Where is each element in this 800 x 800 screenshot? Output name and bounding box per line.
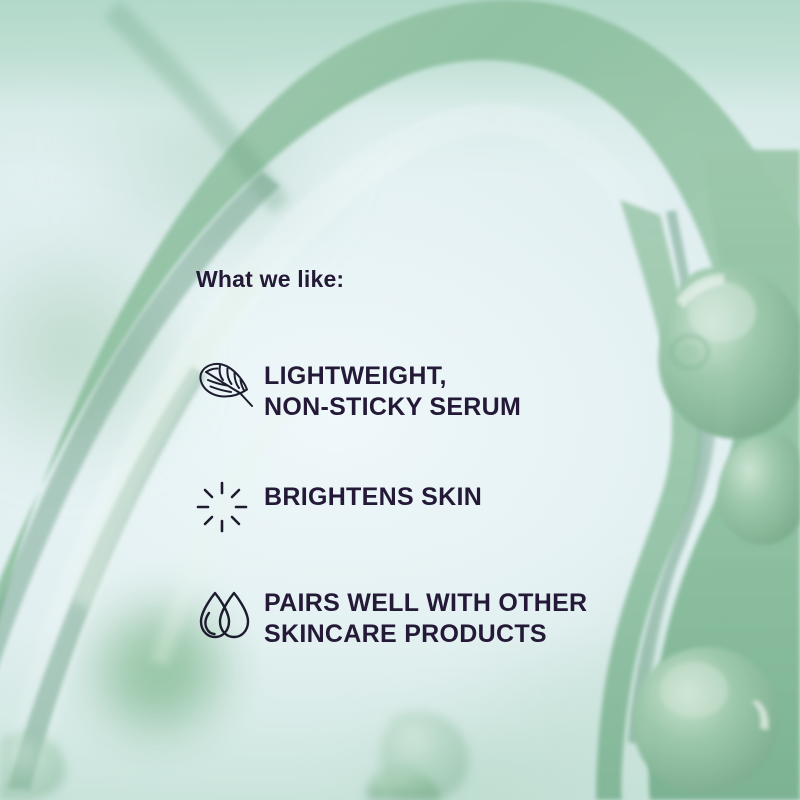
panel-heading: What we like: xyxy=(196,266,656,293)
two-droplets-icon xyxy=(196,586,264,648)
feature-item-brightens: BRIGHTENS SKIN xyxy=(196,468,656,538)
marketing-graphic-canvas: What we like: xyxy=(0,0,800,800)
feature-panel: What we like: xyxy=(196,266,656,649)
feather-icon xyxy=(196,355,264,417)
feature-label: BRIGHTENS SKIN xyxy=(264,468,656,513)
feature-item-pairs-well: PAIRS WELL WITH OTHER SKINCARE PRODUCTS xyxy=(196,584,656,649)
feature-label: PAIRS WELL WITH OTHER SKINCARE PRODUCTS xyxy=(264,584,656,649)
sun-rays-icon xyxy=(196,476,264,538)
feature-list: LIGHTWEIGHT, NON-STICKY SERUM xyxy=(196,357,656,649)
feature-item-lightweight: LIGHTWEIGHT, NON-STICKY SERUM xyxy=(196,357,656,422)
feature-label: LIGHTWEIGHT, NON-STICKY SERUM xyxy=(264,357,656,422)
